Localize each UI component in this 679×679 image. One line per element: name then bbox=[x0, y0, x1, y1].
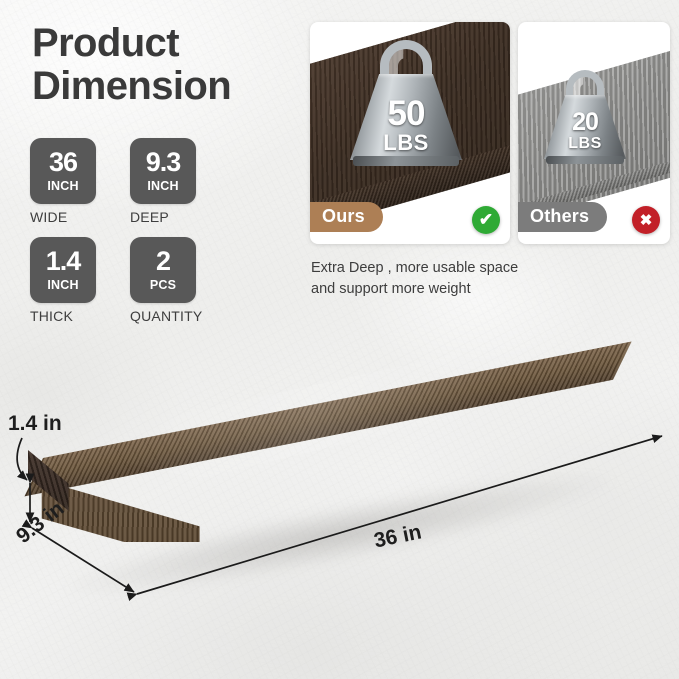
comparison-panel-ours: 50 LBS Ours ✔ bbox=[310, 22, 510, 244]
comparison-caption-line-2: and support more weight bbox=[311, 279, 611, 300]
page-title: Product Dimension bbox=[32, 22, 297, 108]
weight-handle bbox=[566, 70, 604, 98]
weight-handle bbox=[380, 40, 432, 78]
weight-value: 20 bbox=[544, 110, 626, 135]
spec-value: 2 bbox=[156, 248, 170, 275]
spec-badge-thick: 1.4 INCH THICK bbox=[30, 237, 114, 324]
spec-tile: 1.4 INCH bbox=[30, 237, 96, 303]
spec-badge-wide: 36 INCH WIDE bbox=[30, 138, 114, 225]
spec-value: 9.3 bbox=[146, 149, 181, 176]
weight-value: 50 bbox=[350, 96, 462, 131]
spec-caption: QUANTITY bbox=[130, 308, 214, 324]
spec-tile: 36 INCH bbox=[30, 138, 96, 204]
spec-caption: THICK bbox=[30, 308, 114, 324]
weight-foot bbox=[546, 156, 623, 164]
thickness-label: 1.4 in bbox=[8, 412, 62, 436]
spec-unit: PCS bbox=[150, 279, 176, 292]
spec-caption: DEEP bbox=[130, 209, 214, 225]
weight-20lbs-icon: 20 LBS bbox=[544, 70, 626, 170]
spec-value: 1.4 bbox=[46, 248, 81, 275]
spec-badge-quantity: 2 PCS QUANTITY bbox=[130, 237, 214, 324]
spec-tile: 9.3 INCH bbox=[130, 138, 196, 204]
comparison-caption: Extra Deep , more usable space and suppo… bbox=[311, 258, 611, 300]
comparison-panel-others: 20 LBS Others ✖ bbox=[518, 22, 670, 244]
spec-unit: INCH bbox=[47, 279, 78, 292]
spec-tile: 2 PCS bbox=[130, 237, 196, 303]
page-title-line-2: Dimension bbox=[32, 65, 297, 108]
page-title-line-1: Product bbox=[32, 22, 297, 65]
spec-unit: INCH bbox=[47, 180, 78, 193]
weight-50lbs-icon: 50 LBS bbox=[350, 40, 462, 174]
spec-badge-deep: 9.3 INCH DEEP bbox=[130, 138, 214, 225]
comparison-panels: 50 LBS Ours ✔ 20 LBS Others ✖ bbox=[310, 22, 670, 244]
spec-badge-grid: 36 INCH WIDE 9.3 INCH DEEP 1.4 INCH THIC… bbox=[30, 138, 214, 324]
cross-icon: ✖ bbox=[632, 206, 660, 234]
weight-unit: LBS bbox=[350, 132, 462, 154]
ours-label: Ours bbox=[310, 202, 383, 232]
weight-foot bbox=[353, 156, 458, 166]
check-icon: ✔ bbox=[472, 206, 500, 234]
others-label: Others bbox=[518, 202, 607, 232]
shelf-product-image bbox=[0, 330, 679, 620]
spec-value: 36 bbox=[49, 149, 77, 176]
spec-caption: WIDE bbox=[30, 209, 114, 225]
spec-unit: INCH bbox=[147, 180, 178, 193]
comparison-caption-line-1: Extra Deep , more usable space bbox=[311, 258, 611, 279]
weight-unit: LBS bbox=[544, 136, 626, 152]
